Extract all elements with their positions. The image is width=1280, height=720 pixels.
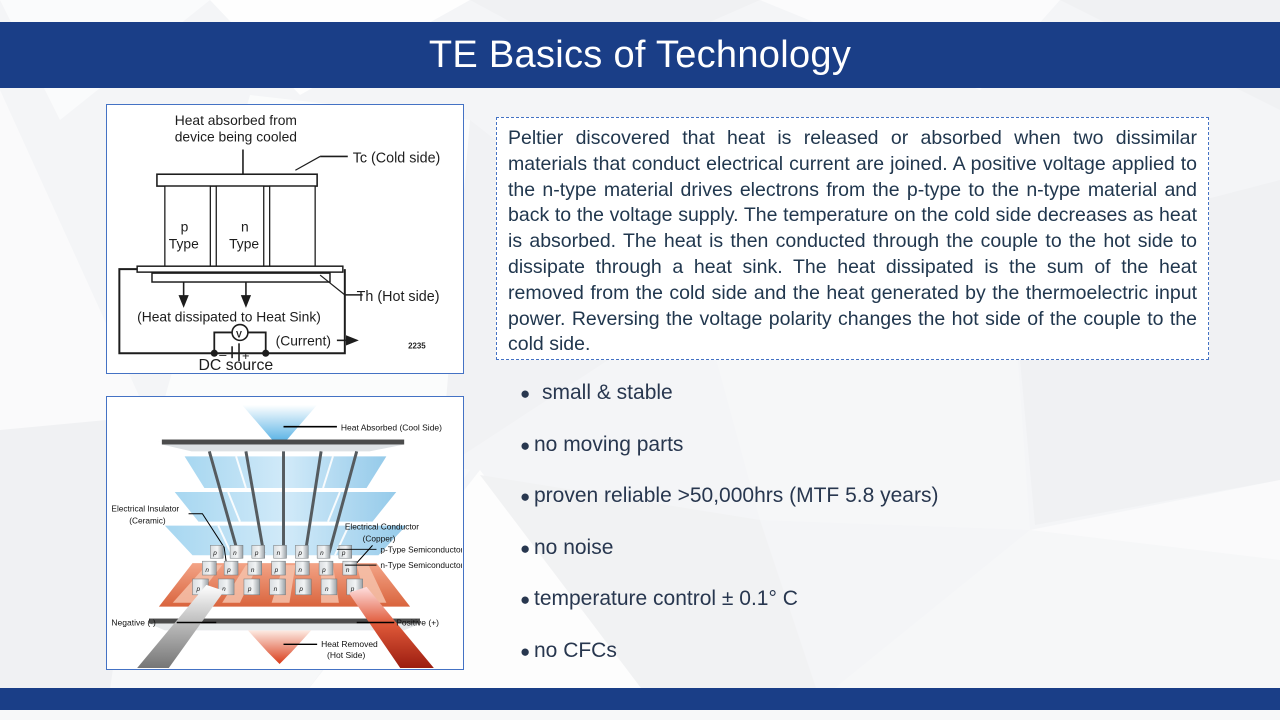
label-heat-absorbed-cool: Heat Absorbed (Cool Side) — [341, 423, 442, 433]
svg-text:n: n — [325, 586, 329, 593]
svg-text:p: p — [274, 567, 279, 574]
list-item-label: no noise — [534, 537, 613, 558]
bullet-icon: ● — [520, 385, 542, 402]
list-item[interactable]: ● proven reliable >50,000hrs (MTF 5.8 ye… — [520, 485, 1220, 537]
slide-title-bar: TE Basics of Technology — [0, 22, 1280, 88]
list-item-label: temperature control ± 0.1° C — [534, 588, 798, 609]
label-figure-code: 2235 — [408, 341, 426, 350]
label-heat-absorbed-line2: device being cooled — [175, 129, 297, 145]
label-positive: Positive (+) — [396, 617, 439, 627]
svg-text:p: p — [297, 550, 302, 557]
figure-thermoelectric-module[interactable]: Heat Absorbed (Cool Side) — [106, 396, 464, 670]
list-item[interactable]: ● small & stable — [520, 382, 1220, 434]
module-cutaway-svg: Heat Absorbed (Cool Side) — [107, 397, 462, 668]
list-item-label: proven reliable >50,000hrs (MTF 5.8 year… — [534, 485, 938, 506]
label-electrical-conductor-1: Electrical Conductor — [345, 522, 419, 532]
svg-text:n: n — [346, 567, 350, 574]
label-negative: Negative (-) — [111, 617, 156, 627]
label-p-type-1: p — [181, 219, 189, 235]
svg-text:n: n — [320, 550, 324, 557]
svg-text:n: n — [205, 567, 209, 574]
svg-text:n: n — [233, 550, 237, 557]
label-dc-source: DC source — [198, 357, 273, 372]
svg-text:p: p — [254, 550, 259, 557]
label-p-type-2: Type — [169, 235, 199, 251]
description-textbox[interactable]: Peltier discovered that heat is released… — [496, 117, 1209, 360]
peltier-schematic-svg: Heat absorbed from device being cooled T… — [107, 105, 462, 372]
label-electrical-conductor-2: (Copper) — [363, 533, 396, 543]
benefits-bullet-list: ● small & stable ● no moving parts ● pro… — [520, 382, 1220, 691]
list-item-label: no moving parts — [534, 434, 683, 455]
label-heat-removed-1: Heat Removed — [321, 639, 378, 649]
svg-text:p: p — [298, 586, 303, 593]
slide-canvas: TE Basics of Technology Heat absorbed fr… — [0, 0, 1280, 720]
label-heat-removed-2: (Hot Side) — [327, 650, 365, 660]
label-n-type-1: n — [241, 219, 249, 235]
svg-text:p: p — [247, 586, 252, 593]
svg-text:n: n — [251, 567, 255, 574]
label-cold-side: Tc (Cold side) — [353, 150, 441, 166]
label-heat-dissipated: (Heat dissipated to Heat Sink) — [137, 309, 321, 325]
svg-text:p: p — [341, 550, 346, 557]
list-item[interactable]: ● no noise — [520, 537, 1220, 589]
slide-footer-bar — [0, 688, 1280, 710]
label-n-type-2: Type — [229, 235, 259, 251]
label-electrical-insulator-2: (Ceramic) — [129, 516, 166, 526]
label-hot-side: Th (Hot side) — [357, 289, 440, 305]
svg-text:p: p — [212, 550, 217, 557]
list-item[interactable]: ● no moving parts — [520, 434, 1220, 486]
label-n-type-semiconductor: n-Type Semiconductor — [380, 560, 462, 570]
list-item[interactable]: ● temperature control ± 0.1° C — [520, 588, 1220, 640]
svg-text:p: p — [321, 567, 326, 574]
label-voltmeter: V — [236, 329, 242, 339]
label-electrical-insulator-1: Electrical Insulator — [111, 504, 179, 514]
label-heat-absorbed-line1: Heat absorbed from — [175, 112, 297, 128]
list-item-label: small & stable — [542, 382, 673, 403]
list-item[interactable]: ● no CFCs — [520, 640, 1220, 692]
label-current: (Current) — [276, 332, 331, 348]
description-paragraph: Peltier discovered that heat is released… — [508, 126, 1197, 358]
label-p-type-semiconductor: p-Type Semiconductor — [380, 544, 462, 554]
svg-text:p: p — [195, 586, 200, 593]
svg-text:p: p — [226, 567, 231, 574]
svg-text:n: n — [298, 567, 302, 574]
svg-text:n: n — [274, 586, 278, 593]
list-item-label: no CFCs — [534, 640, 617, 661]
svg-text:n: n — [277, 550, 281, 557]
page-title: TE Basics of Technology — [429, 36, 851, 74]
figure-peltier-couple-schematic[interactable]: Heat absorbed from device being cooled T… — [106, 104, 464, 374]
